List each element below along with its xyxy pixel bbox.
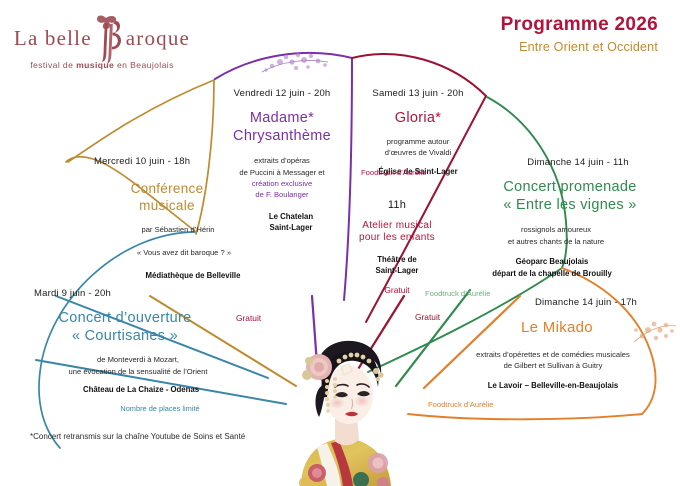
event-venue: Médiathèque de Belleville	[72, 270, 262, 282]
event-concert-promenade[interactable]: Dimanche 14 juin - 11h Concert promenade…	[430, 157, 670, 279]
arc-madame-chrysantheme	[215, 53, 352, 79]
event-time: 11h	[352, 199, 442, 213]
event-le-mikado[interactable]: Dimanche 14 juin - 17h Le Mikado extrait…	[430, 297, 670, 392]
logo-wordmark: La bellearoque	[12, 26, 192, 51]
page-title: Programme 2026	[501, 14, 658, 36]
event-concert-ouverture[interactable]: Mardi 9 juin - 20h Concert d’ouverture «…	[10, 288, 240, 413]
footnote: *Concert retransmis sur la chaîne Youtub…	[30, 432, 245, 441]
event-venue-line2: départ de la chapelle de Brouilly	[430, 268, 670, 280]
event-venue: Le Lavoir – Belleville-en-Beaujolais	[430, 380, 670, 392]
event-title-line1: Le Mikado	[430, 319, 670, 338]
event-description-line2: de Puccini à Messager et	[212, 167, 352, 178]
event-title-line2: « Courtisanes »	[10, 327, 240, 345]
event-atelier-musical[interactable]: 11h Atelier musical pour les enfants Thé…	[352, 199, 442, 296]
tagline-pre: festival de	[30, 60, 76, 70]
event-foodtruck-mikado: Foodtruck d’Aurélie	[428, 400, 493, 409]
event-title-line1: Concert d’ouverture	[10, 309, 240, 327]
arc-gold-long	[68, 80, 214, 162]
tagline-mid: musique	[76, 60, 114, 70]
event-price-madame: Gratuit	[236, 313, 261, 323]
rib-orange-bottom	[408, 414, 642, 419]
event-description-line2: de Gilbert et Sullivan à Guitry	[430, 360, 670, 371]
event-description-line2: « Vous avez dit baroque ? »	[72, 247, 262, 258]
geisha-hair-side	[316, 385, 327, 417]
event-madame-chrysantheme[interactable]: Vendredi 12 juin - 20h Madame* Chrysanth…	[212, 88, 352, 234]
event-description-line1: de Monteverdi à Mozart,	[10, 354, 240, 365]
event-date: Dimanche 14 juin - 17h	[430, 297, 670, 309]
event-foodtruck-gloria: Foodtruck d’Aurélie	[361, 168, 426, 177]
geisha-illustration	[283, 323, 403, 486]
event-description-line2: et autres chants de la nature	[430, 236, 670, 247]
cherry-blossom-top	[262, 53, 328, 72]
event-note: Nombre de places limité	[10, 404, 240, 413]
event-title-line1: Gloria*	[358, 109, 478, 127]
event-date: Vendredi 12 juin - 20h	[212, 88, 352, 100]
festival-logo: La bellearoque festival de musique en Be…	[12, 12, 192, 74]
event-date: Samedi 13 juin - 20h	[358, 88, 478, 100]
event-description-line2: une évocation de la sensualité de l’Orie…	[10, 366, 240, 377]
event-venue: Château de La Chaize - Odenas	[10, 384, 240, 396]
event-title-line2: « Entre les vignes »	[430, 196, 670, 214]
event-title-line1: Madame*	[212, 109, 352, 127]
event-venue-line2: Saint-Lager	[212, 222, 352, 234]
festival-program-poster: La bellearoque festival de musique en Be…	[0, 0, 680, 486]
event-description-line1: rossignols amoureux	[430, 224, 670, 235]
event-title-line1: Concert promenade	[430, 178, 670, 196]
event-description-line1: programme autour	[358, 136, 478, 147]
event-venue-line1: Théâtre de	[352, 254, 442, 266]
event-title-line2: pour les enfants	[352, 232, 442, 245]
event-venue-line2: Saint-Lager	[352, 265, 442, 277]
event-title-line2: Chrysanthème	[212, 127, 352, 145]
page-subtitle: Entre Orient et Occident	[519, 40, 658, 54]
event-description-line3: création exclusive	[212, 178, 352, 189]
event-description-line1: extraits d’opéras	[212, 155, 352, 166]
event-description-line1: extraits d’opérettes et de comédies musi…	[430, 349, 670, 360]
logo-tagline: festival de musique en Beaujolais	[12, 60, 192, 70]
event-description-line4: de F. Boulanger	[212, 189, 352, 200]
tagline-post: en Beaujolais	[114, 60, 174, 70]
event-date: Mardi 9 juin - 20h	[10, 288, 240, 300]
event-venue-line1: Géoparc Beaujolais	[430, 256, 670, 268]
event-date: Dimanche 14 juin - 11h	[430, 157, 670, 169]
logo-word-2: aroque	[126, 26, 190, 50]
event-title-line1: Atelier musical	[352, 220, 442, 233]
logo-word-1: La belle	[14, 26, 92, 50]
geisha-hair-flower	[302, 354, 332, 380]
event-venue-line1: Le Chatelan	[212, 211, 352, 223]
